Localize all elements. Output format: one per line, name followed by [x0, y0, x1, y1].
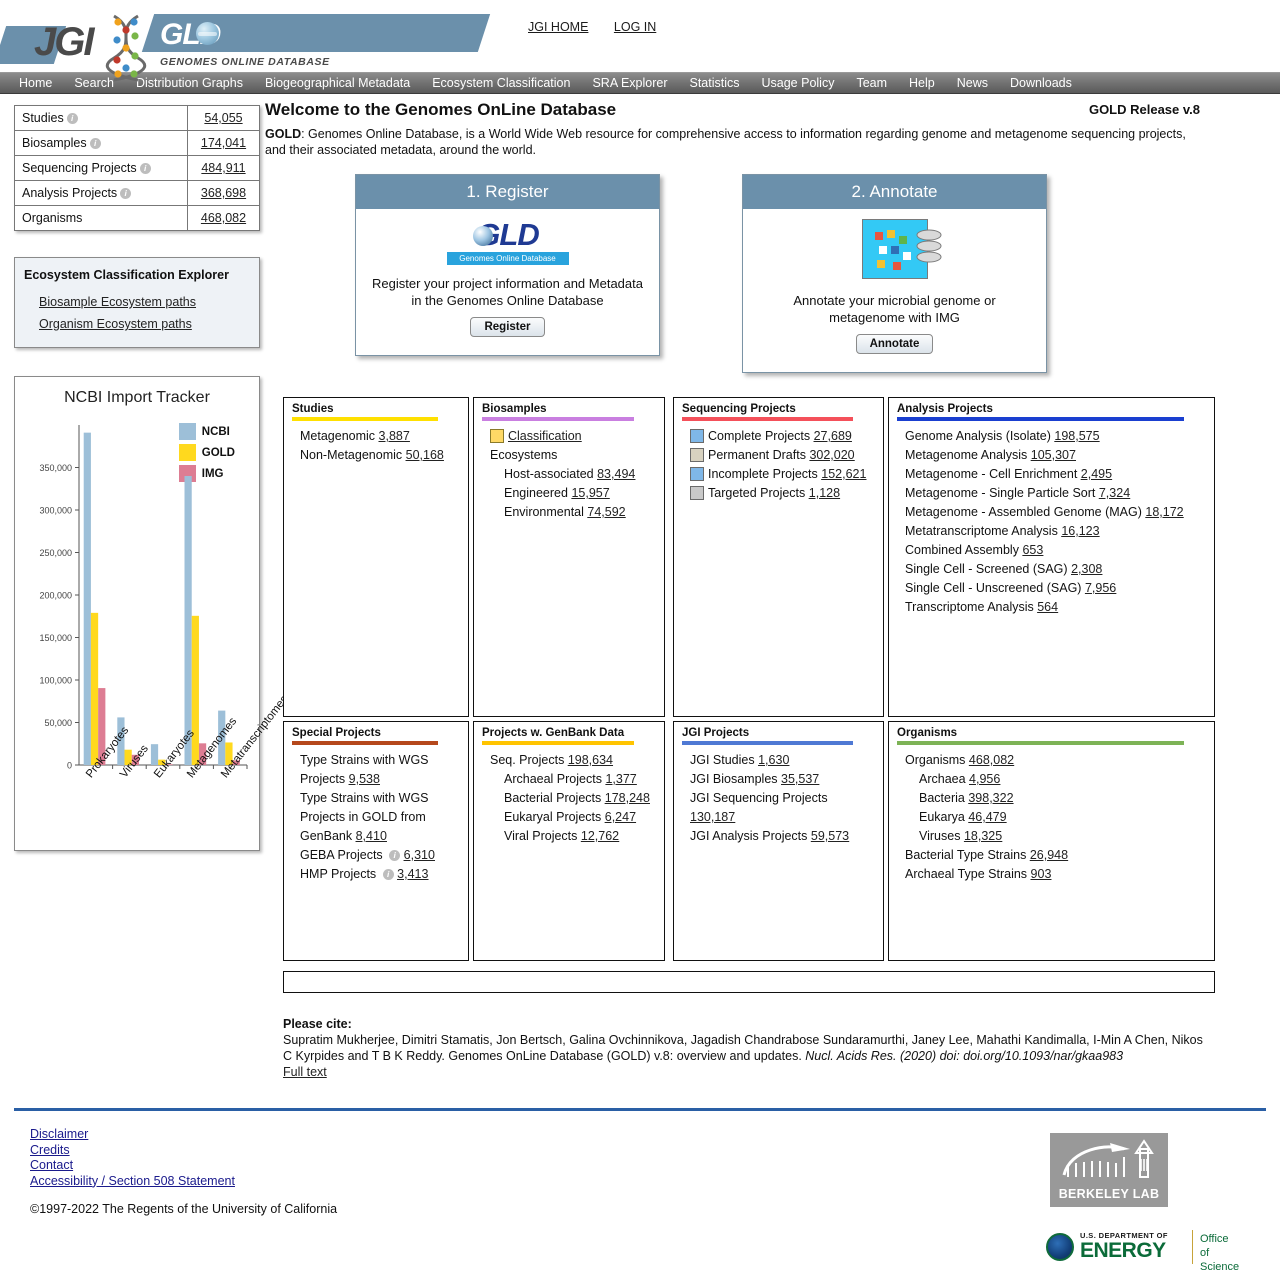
list-item: Seq. Projects 198,634	[482, 751, 656, 770]
nav-item-help[interactable]: Help	[898, 76, 946, 90]
list-item: Organisms 468,082	[897, 751, 1206, 770]
empty-notice-bar	[283, 971, 1215, 993]
item-value[interactable]: 16,123	[1061, 524, 1099, 538]
item-label: JGI Biosamples	[690, 772, 778, 786]
footer-links: Disclaimer Credits Contact Accessibility…	[30, 1127, 235, 1189]
table-row: Studiesi 54,055	[15, 106, 260, 131]
nav-item-statistics[interactable]: Statistics	[678, 76, 750, 90]
info-icon[interactable]: i	[120, 188, 131, 199]
register-card[interactable]: 1. Register GLD Genomes Online Database …	[355, 174, 660, 356]
list-item: Non-Metagenomic 50,168	[292, 446, 460, 465]
chart-bar	[192, 616, 199, 765]
list-item: Engineered 15,957	[482, 484, 656, 503]
list-item: Archaeal Type Strains 903	[897, 865, 1206, 884]
panel-studies: StudiesMetagenomic 3,887Non-Metagenomic …	[283, 397, 469, 717]
panel-title: Sequencing Projects	[682, 403, 875, 415]
item-label: Incomplete Projects	[708, 467, 818, 481]
annotate-button[interactable]: Annotate	[856, 334, 934, 354]
list-item: Type Strains with WGS Projects in GOLD f…	[292, 789, 460, 846]
info-icon[interactable]: i	[140, 163, 151, 174]
list-item: Metagenome - Cell Enrichment 2,495	[897, 465, 1206, 484]
incomplete-project-icon	[690, 467, 704, 481]
citation-heading: Please cite:	[283, 1017, 352, 1031]
item-value[interactable]: 12,762	[581, 829, 619, 843]
contact-link[interactable]: Contact	[30, 1158, 235, 1174]
nav-item-news[interactable]: News	[946, 76, 999, 90]
img-logo-wrap	[862, 219, 928, 282]
stat-value-studies[interactable]: 54,055	[204, 111, 242, 125]
item-value[interactable]: 198,634	[568, 753, 613, 767]
database-icon	[916, 229, 942, 265]
item-value[interactable]: 198,575	[1054, 429, 1099, 443]
gold-logo-caption: Genomes Online Database	[447, 252, 569, 265]
item-value[interactable]: 18,172	[1145, 505, 1183, 519]
item-value[interactable]: 4,956	[969, 772, 1000, 786]
list-item: JGI Biosamples 35,537	[682, 770, 875, 789]
panel-analysis_projects: Analysis ProjectsGenome Analysis (Isolat…	[888, 397, 1215, 717]
list-item: Archaeal Projects 1,377	[482, 770, 656, 789]
item-label: Archaea	[919, 772, 966, 786]
item-label: Metatranscriptome Analysis	[905, 524, 1058, 538]
item-value[interactable]: 152,621	[821, 467, 866, 481]
list-item: Eukarya 46,479	[897, 808, 1206, 827]
item-label: Genome Analysis (Isolate)	[905, 429, 1051, 443]
nav-item-home[interactable]: Home	[8, 76, 63, 90]
list-item: Environmental 74,592	[482, 503, 656, 522]
citation-journal: Nucl. Acids Res. (2020) doi: doi.org/10.…	[805, 1049, 1123, 1063]
doe-seal-icon	[1046, 1233, 1074, 1261]
gold-logo-card-icon: GLD Genomes Online Database	[447, 219, 569, 265]
item-label: Metagenome Analysis	[905, 448, 1027, 462]
item-label: Environmental	[504, 505, 584, 519]
table-row: Sequencing Projectsi 484,911	[15, 156, 260, 181]
item-value[interactable]: 18,325	[964, 829, 1002, 843]
targeted-project-icon	[690, 486, 704, 500]
panel-rule	[292, 741, 438, 745]
footer-divider	[14, 1108, 1266, 1111]
jgi-logo[interactable]: JGI	[0, 12, 145, 64]
list-item: Eukaryal Projects 6,247	[482, 808, 656, 827]
panel-rule	[897, 741, 1184, 745]
stat-value-biosamples[interactable]: 174,041	[201, 136, 246, 150]
list-item: Permanent Drafts 302,020	[682, 446, 875, 465]
summary-stats-table: Studiesi 54,055 Biosamplesi 174,041 Sequ…	[14, 105, 260, 231]
list-item: Single Cell - Unscreened (SAG) 7,956	[897, 579, 1206, 598]
stat-label-analysis-projects: Analysis Projectsi	[15, 181, 188, 206]
panel-title: Biosamples	[482, 403, 656, 415]
info-icon[interactable]: i	[389, 850, 400, 861]
complete-project-icon	[690, 429, 704, 443]
item-label: GEBA Projects	[300, 848, 383, 862]
chart-title: NCBI Import Tracker	[15, 377, 259, 407]
chart-bar	[91, 613, 98, 765]
main-navigation: Home Search Distribution Graphs Biogeogr…	[0, 72, 1280, 94]
intro-paragraph: GOLD: Genomes Online Database, is a Worl…	[265, 126, 1200, 158]
item-label: Single Cell - Unscreened (SAG)	[905, 581, 1081, 595]
chart-bar	[151, 744, 158, 765]
item-value[interactable]: 2,308	[1071, 562, 1102, 576]
stat-value-organisms[interactable]: 468,082	[201, 211, 246, 225]
item-label: Bacterial Projects	[504, 791, 601, 805]
panel-title: Projects w. GenBank Data	[482, 727, 656, 739]
item-label: Permanent Drafts	[708, 448, 806, 462]
register-card-text: Register your project information and Me…	[370, 275, 645, 309]
item-value[interactable]: 2,495	[1081, 467, 1112, 481]
jgi-logo-text: JGI	[34, 20, 92, 65]
annotate-card[interactable]: 2. Annotate	[742, 174, 1047, 373]
list-item: Type Strains with WGS Projects 9,538	[292, 751, 460, 789]
item-value[interactable]: 9,538	[349, 772, 380, 786]
item-value[interactable]: 35,537	[781, 772, 819, 786]
panel-title: JGI Projects	[682, 727, 875, 739]
item-label: Non-Metagenomic	[300, 448, 402, 462]
item-value[interactable]: 46,479	[968, 810, 1006, 824]
citation-block: Please cite: Supratim Mukherjee, Dimitri…	[283, 1016, 1203, 1080]
ecosystem-explorer-title: Ecosystem Classification Explorer	[15, 268, 259, 291]
panel-biosamples: BiosamplesClassificationEcosystemsHost-a…	[473, 397, 665, 717]
item-value[interactable]: 178,248	[605, 791, 650, 805]
panel-rule	[682, 741, 853, 745]
item-value[interactable]: 302,020	[809, 448, 854, 462]
doe-energy-label: ENERGY	[1080, 1239, 1166, 1263]
ecosystems-label: Ecosystems	[482, 446, 656, 465]
list-item: Transcriptome Analysis 564	[897, 598, 1206, 617]
item-value[interactable]: 468,082	[969, 753, 1014, 767]
info-icon[interactable]: i	[383, 869, 394, 880]
item-label: Metagenome - Cell Enrichment	[905, 467, 1077, 481]
doe-divider	[1192, 1230, 1193, 1264]
item-label: Metagenomic	[300, 429, 375, 443]
nav-item-downloads[interactable]: Downloads	[999, 76, 1083, 90]
item-label: Viruses	[919, 829, 960, 843]
annotate-card-text: Annotate your microbial genome or metage…	[757, 292, 1032, 326]
item-value[interactable]: 50,168	[406, 448, 444, 462]
y-tick-label: 250,000	[39, 548, 72, 558]
table-row: Organisms 468,082	[15, 206, 260, 231]
stat-value-sequencing-projects[interactable]: 484,911	[201, 161, 245, 175]
item-label: JGI Studies	[690, 753, 755, 767]
stat-label-organisms: Organisms	[15, 206, 188, 231]
list-item: Combined Assembly 653	[897, 541, 1206, 560]
chart-plot-area: NCBIGOLDIMG050,000100,000150,000200,0002…	[15, 417, 261, 787]
permanent-draft-icon	[690, 448, 704, 462]
panel-special_projects: Special ProjectsType Strains with WGS Pr…	[283, 721, 469, 961]
list-item: Bacterial Projects 178,248	[482, 789, 656, 808]
chart-bar	[185, 476, 192, 765]
list-item: Bacterial Type Strains 26,948	[897, 846, 1206, 865]
y-tick-label: 150,000	[39, 633, 72, 643]
item-value[interactable]: 6,247	[605, 810, 636, 824]
log-in-link[interactable]: LOG IN	[614, 20, 656, 34]
list-item: Metagenome - Single Particle Sort 7,324	[897, 484, 1206, 503]
item-label: Metagenome - Assembled Genome (MAG)	[905, 505, 1142, 519]
copyright-text: ©1997-2022 The Regents of the University…	[30, 1202, 337, 1216]
panel-rule	[482, 417, 634, 421]
list-item: Targeted Projects 1,128	[682, 484, 875, 503]
action-cards: 1. Register GLD Genomes Online Database …	[265, 174, 1270, 389]
item-label: Combined Assembly	[905, 543, 1019, 557]
citation-full-text-link[interactable]: Full text	[283, 1065, 327, 1079]
list-item: Metagenome Analysis 105,307	[897, 446, 1206, 465]
table-row: Biosamplesi 174,041	[15, 131, 260, 156]
nav-item-team[interactable]: Team	[845, 76, 898, 90]
panel-rule	[897, 417, 1184, 421]
item-value[interactable]: 1,630	[758, 753, 789, 767]
item-value[interactable]: 130,187	[690, 810, 735, 824]
item-label: Eukaryal Projects	[504, 810, 601, 824]
nav-item-usage-policy[interactable]: Usage Policy	[751, 76, 846, 90]
item-value[interactable]: 3,413	[397, 867, 428, 881]
release-label: GOLD Release v.8	[1089, 102, 1200, 117]
list-item: Single Cell - Screened (SAG) 2,308	[897, 560, 1206, 579]
list-item: Host-associated 83,494	[482, 465, 656, 484]
panel-sequencing_projects: Sequencing ProjectsComplete Projects 27,…	[673, 397, 884, 717]
list-item: Bacteria 398,322	[897, 789, 1206, 808]
intro-text: : Genomes Online Database, is a World Wi…	[265, 127, 1186, 157]
main-content: Welcome to the Genomes OnLine Database G…	[265, 100, 1270, 397]
globe-icon	[196, 22, 219, 45]
list-item: GEBA Projects i 6,310	[292, 846, 460, 865]
list-item: Archaea 4,956	[897, 770, 1206, 789]
dna-helix-icon	[104, 14, 148, 82]
nav-item-biogeographical-metadata[interactable]: Biogeographical Metadata	[254, 76, 421, 90]
top-links: JGI HOME LOG IN	[528, 20, 678, 34]
berkeley-lab-label: BERKELEY LAB	[1050, 1187, 1168, 1201]
doe-office-label: Office ofScience	[1200, 1232, 1239, 1274]
item-value[interactable]: 6,310	[404, 848, 435, 862]
item-label: Bacteria	[919, 791, 965, 805]
classification-link[interactable]: Classification	[508, 429, 582, 443]
item-label: Eukarya	[919, 810, 965, 824]
item-value[interactable]: 653	[1022, 543, 1043, 557]
item-label: Viral Projects	[504, 829, 577, 843]
item-label: Seq. Projects	[490, 753, 564, 767]
item-value[interactable]: 564	[1037, 600, 1058, 614]
item-value[interactable]: 7,324	[1099, 486, 1130, 500]
biosample-ecosystem-paths-link[interactable]: Biosample Ecosystem paths	[15, 291, 259, 313]
info-icon[interactable]: i	[90, 138, 101, 149]
panel-jgi_projects: JGI ProjectsJGI Studies 1,630JGI Biosamp…	[673, 721, 884, 961]
y-tick-label: 350,000	[39, 463, 72, 473]
list-item: Incomplete Projects 152,621	[682, 465, 875, 484]
panel-title: Studies	[292, 403, 460, 415]
doe-logo: U.S. DEPARTMENT OF ENERGY Office ofScien…	[1046, 1228, 1236, 1266]
item-value[interactable]: 26,948	[1030, 848, 1068, 862]
list-item: JGI Studies 1,630	[682, 751, 875, 770]
berkeley-lab-logo: BERKELEY LAB	[1050, 1133, 1168, 1207]
ncbi-import-tracker-chart: NCBI Import Tracker NCBIGOLDIMG050,00010…	[14, 376, 260, 851]
list-item: Genome Analysis (Isolate) 198,575	[897, 427, 1206, 446]
stat-label-biosamples: Biosamplesi	[15, 131, 188, 156]
intro-bold: GOLD	[265, 127, 301, 141]
list-item: JGI Sequencing Projects 130,187	[682, 789, 875, 827]
item-label: Archaeal Type Strains	[905, 867, 1027, 881]
list-item: Metagenomic 3,887	[292, 427, 460, 446]
item-value[interactable]: 7,956	[1085, 581, 1116, 595]
chart-bar	[84, 433, 91, 765]
nav-item-ecosystem-classification[interactable]: Ecosystem Classification	[421, 76, 581, 90]
register-card-title: 1. Register	[356, 175, 659, 209]
y-tick-label: 300,000	[39, 506, 72, 516]
item-value[interactable]: 105,307	[1031, 448, 1076, 462]
classification-row[interactable]: Classification	[482, 427, 656, 446]
item-value[interactable]: 1,377	[605, 772, 636, 786]
item-label: HMP Projects	[300, 867, 376, 881]
credits-link[interactable]: Credits	[30, 1143, 235, 1159]
berkeley-arch-icon	[1050, 1133, 1168, 1189]
list-item: JGI Analysis Projects 59,573	[682, 827, 875, 846]
stat-label-sequencing-projects: Sequencing Projectsi	[15, 156, 188, 181]
panel-title: Special Projects	[292, 727, 460, 739]
item-label: Host-associated	[504, 467, 594, 481]
globe-icon	[473, 226, 493, 246]
item-value[interactable]: 8,410	[356, 829, 387, 843]
panel-rule	[292, 417, 438, 421]
panel-title: Analysis Projects	[897, 403, 1206, 415]
item-label: Metagenome - Single Particle Sort	[905, 486, 1095, 500]
left-sidebar: Studiesi 54,055 Biosamplesi 174,041 Sequ…	[14, 105, 264, 851]
nav-item-sra-explorer[interactable]: SRA Explorer	[581, 76, 678, 90]
y-tick-label: 0	[67, 761, 72, 771]
ecosystem-classification-explorer: Ecosystem Classification Explorer Biosam…	[14, 257, 260, 348]
item-value[interactable]: 27,689	[814, 429, 852, 443]
list-item: Metagenome - Assembled Genome (MAG) 18,1…	[897, 503, 1206, 522]
y-tick-label: 100,000	[39, 676, 72, 686]
item-label: Bacterial Type Strains	[905, 848, 1026, 862]
panel-rule	[482, 741, 634, 745]
disclaimer-link[interactable]: Disclaimer	[30, 1127, 235, 1143]
item-label: Organisms	[905, 753, 965, 767]
list-item: Viral Projects 12,762	[482, 827, 656, 846]
item-value[interactable]: 1,128	[809, 486, 840, 500]
stat-label-studies: Studiesi	[15, 106, 188, 131]
list-item: HMP Projects i 3,413	[292, 865, 460, 884]
panel-rule	[682, 417, 853, 421]
item-label: Engineered	[504, 486, 568, 500]
list-item: Complete Projects 27,689	[682, 427, 875, 446]
item-value[interactable]: 83,494	[597, 467, 635, 481]
item-value[interactable]: 903	[1031, 867, 1052, 881]
item-value[interactable]: 15,957	[571, 486, 609, 500]
panel-organisms: OrganismsOrganisms 468,082Archaea 4,956B…	[888, 721, 1215, 961]
item-label: Single Cell - Screened (SAG)	[905, 562, 1068, 576]
annotate-card-title: 2. Annotate	[743, 175, 1046, 209]
item-value[interactable]: 3,887	[379, 429, 410, 443]
item-value[interactable]: 74,592	[587, 505, 625, 519]
item-value[interactable]: 398,322	[968, 791, 1013, 805]
table-row: Analysis Projectsi 368,698	[15, 181, 260, 206]
gold-tagline: GENOMES ONLINE DATABASE	[160, 56, 330, 68]
accessibility-link[interactable]: Accessibility / Section 508 Statement	[30, 1174, 235, 1190]
organism-ecosystem-paths-link[interactable]: Organism Ecosystem paths	[15, 313, 259, 335]
jgi-home-link[interactable]: JGI HOME	[528, 20, 588, 34]
page-header: JGI GLD GENOMES ONLINE DATABASE JGI HOME…	[0, 0, 1280, 72]
panel-title: Organisms	[897, 727, 1206, 739]
y-tick-label: 200,000	[39, 591, 72, 601]
list-item: Metatranscriptome Analysis 16,123	[897, 522, 1206, 541]
list-item: Viruses 18,325	[897, 827, 1206, 846]
stat-value-analysis-projects[interactable]: 368,698	[201, 186, 246, 200]
classification-icon	[490, 429, 504, 443]
item-label: JGI Analysis Projects	[690, 829, 807, 843]
panel-genbank_projects: Projects w. GenBank DataSeq. Projects 19…	[473, 721, 665, 961]
item-label: Complete Projects	[708, 429, 810, 443]
register-button[interactable]: Register	[470, 317, 544, 337]
item-label: Transcriptome Analysis	[905, 600, 1034, 614]
item-value[interactable]: 59,573	[811, 829, 849, 843]
item-label: JGI Sequencing Projects	[690, 791, 828, 805]
item-label: Archaeal Projects	[504, 772, 602, 786]
item-label: Targeted Projects	[708, 486, 805, 500]
info-icon[interactable]: i	[67, 113, 78, 124]
y-tick-label: 50,000	[44, 718, 72, 728]
